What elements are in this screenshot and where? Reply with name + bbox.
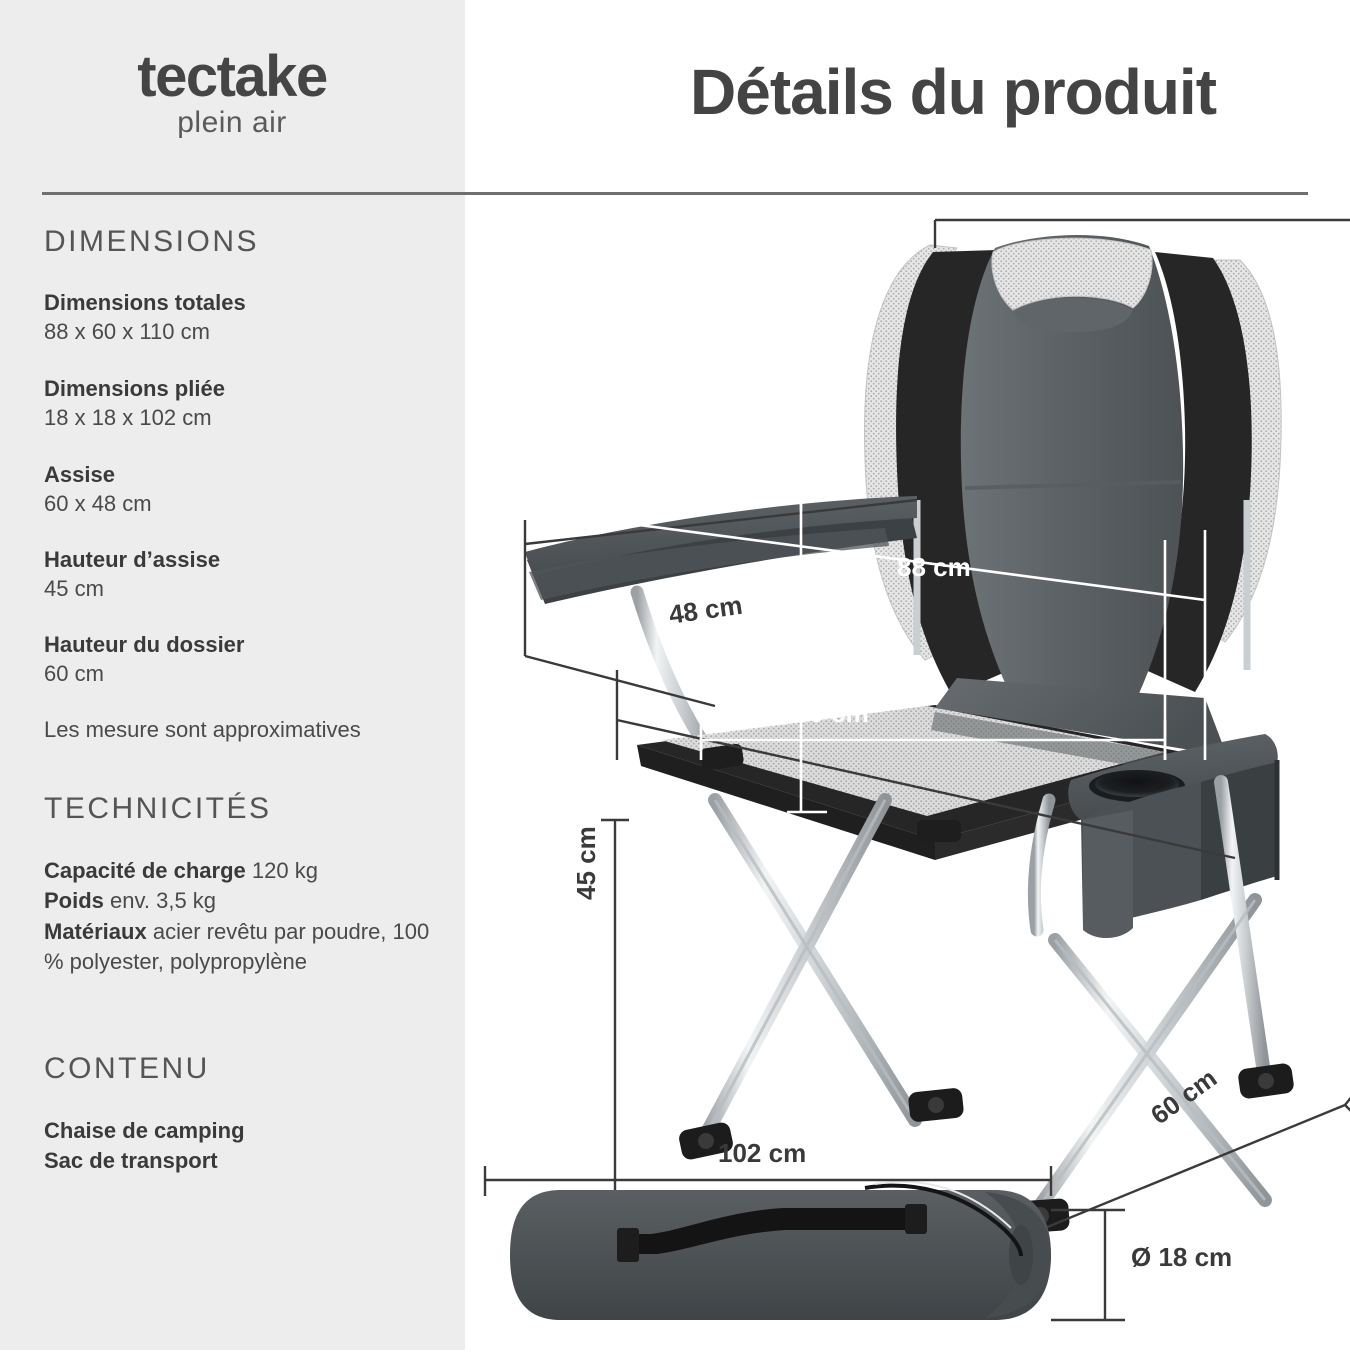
tech-value: 120 kg — [252, 858, 318, 883]
product-detail-sheet: tectake plein air Détails du produit DIM… — [0, 0, 1350, 1350]
tech-value: env. 3,5 kg — [110, 888, 216, 913]
spec-label: Hauteur d’assise — [44, 545, 444, 574]
tech-label: Poids — [44, 888, 104, 913]
spec-label: Dimensions totales — [44, 288, 444, 317]
dim-label-seat-height: 45 cm — [571, 826, 602, 900]
tech-label: Capacité de charge — [44, 858, 246, 883]
dim-label-total-width: 88 cm — [897, 552, 971, 583]
spec-value: 60 x 48 cm — [44, 489, 444, 518]
dim-label-bag-length: 102 cm — [718, 1138, 806, 1169]
tech-line-poids: Poids env. 3,5 kg — [44, 886, 444, 916]
spec-value: 45 cm — [44, 574, 444, 603]
spec-hauteur-dossier: Hauteur du dossier 60 cm — [44, 630, 444, 688]
dim-label-backrest-height: 60 cm — [757, 356, 788, 430]
section-heading-technicites: TECHNICITÉS — [44, 792, 444, 826]
tech-label: Matériaux — [44, 919, 147, 944]
spec-hauteur-assise: Hauteur d’assise 45 cm — [44, 545, 444, 603]
header-divider — [42, 192, 1308, 195]
spec-label: Hauteur du dossier — [44, 630, 444, 659]
spec-dimensions-totales: Dimensions totales 88 x 60 x 110 cm — [44, 288, 444, 346]
chair-illustration-svg — [465, 200, 1350, 1350]
product-diagram: 60 cm 88 cm 48 cm 60 cm 45 cm 110 cm 60 … — [465, 200, 1350, 1350]
dim-label-bag-diameter: Ø 18 cm — [1131, 1242, 1232, 1273]
brand-tagline: plein air — [42, 108, 422, 138]
dimensions-note: Les mesure sont approximatives — [44, 715, 444, 744]
brand-logo: tectake plein air — [42, 48, 422, 138]
tech-line-capacite: Capacité de charge 120 kg — [44, 856, 444, 886]
spec-assise: Assise 60 x 48 cm — [44, 460, 444, 518]
spec-value: 18 x 18 x 102 cm — [44, 403, 444, 432]
list-item: Sac de transport — [44, 1146, 444, 1176]
list-item: Chaise de camping — [44, 1116, 444, 1146]
dim-label-seat-width: 60 cm — [795, 698, 869, 729]
section-heading-dimensions: DIMENSIONS — [44, 225, 444, 259]
section-heading-contenu: CONTENU — [44, 1052, 444, 1086]
brand-name: tectake — [42, 48, 422, 106]
page-title: Détails du produit — [690, 55, 1216, 129]
carry-bag-graphic — [510, 1182, 1051, 1320]
tech-line-materiaux: Matériaux acier revêtu par poudre, 100 %… — [44, 917, 444, 978]
spec-label: Dimensions pliée — [44, 374, 444, 403]
tech-specs: Capacité de charge 120 kg Poids env. 3,5… — [44, 856, 444, 977]
spec-value: 88 x 60 x 110 cm — [44, 317, 444, 346]
spec-value: 60 cm — [44, 659, 444, 688]
contenu-list: Chaise de camping Sac de transport — [44, 1116, 444, 1177]
spec-label: Assise — [44, 460, 444, 489]
spec-dimensions-pliee: Dimensions pliée 18 x 18 x 102 cm — [44, 374, 444, 432]
